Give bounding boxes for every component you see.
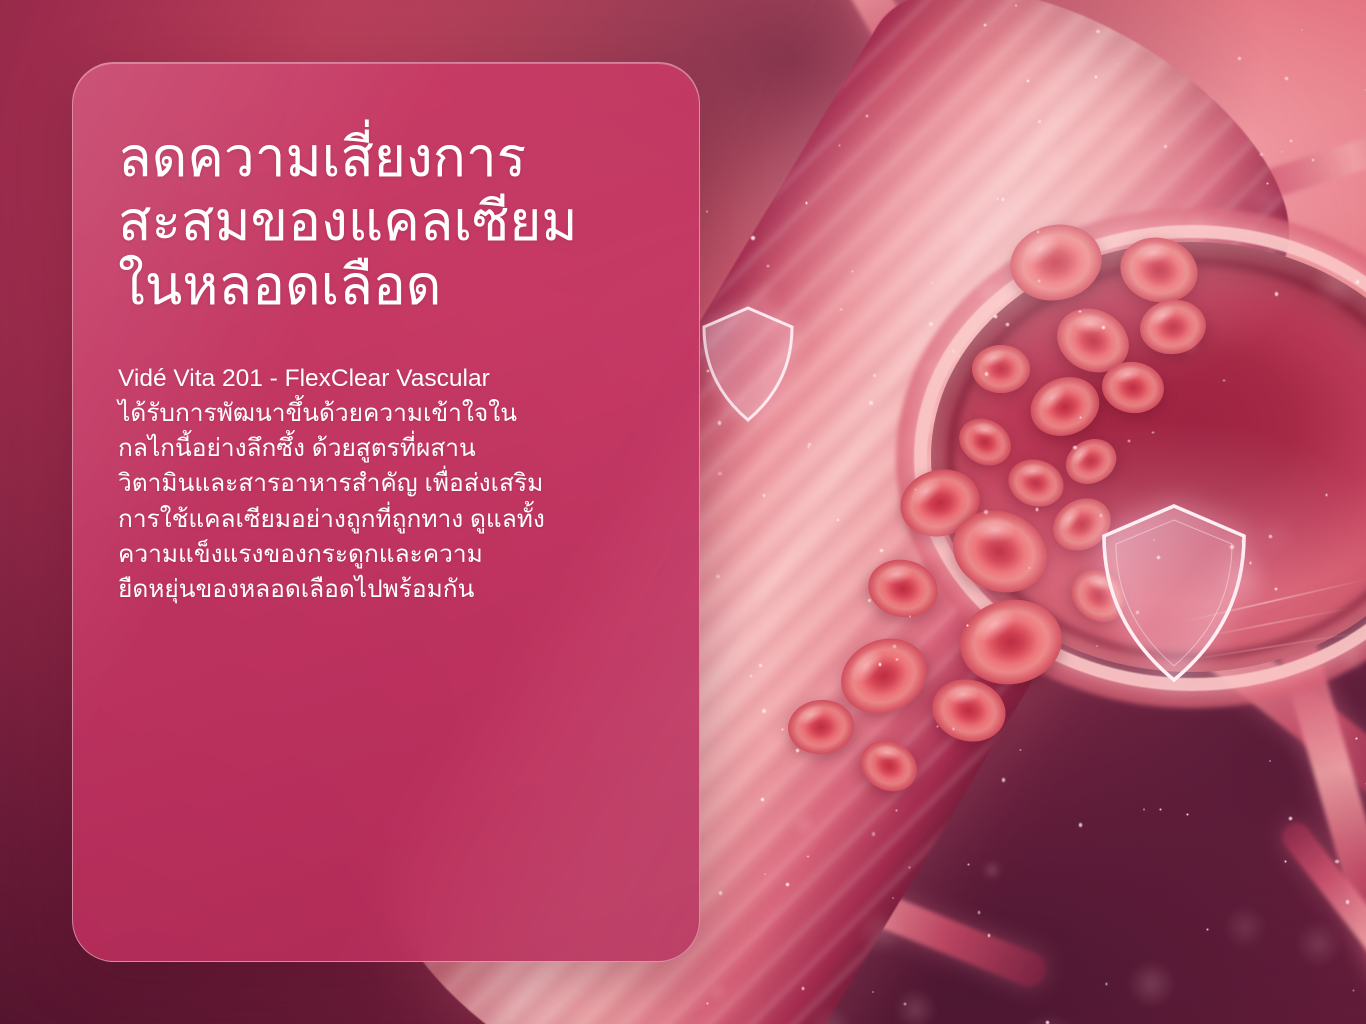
bokeh-particle xyxy=(1223,905,1267,949)
sparkle-particle xyxy=(805,201,808,204)
bokeh-particle xyxy=(1214,552,1272,610)
sparkle-particle xyxy=(762,493,767,498)
sparkle-particle xyxy=(1229,544,1235,550)
bokeh-particle xyxy=(1244,177,1289,222)
sparkle-particle xyxy=(749,674,753,678)
sparkle-particle xyxy=(1019,749,1021,751)
sparkle-particle xyxy=(983,509,989,515)
sparkle-particle xyxy=(865,114,869,118)
sparkle-particle xyxy=(872,373,877,378)
bokeh-particle xyxy=(1030,139,1075,184)
sparkle-particle xyxy=(895,809,898,812)
sparkle-particle xyxy=(1301,29,1303,31)
sparkle-particle xyxy=(718,890,723,895)
sparkle-particle xyxy=(1284,76,1289,81)
sparkle-particle xyxy=(951,349,956,354)
bokeh-particle xyxy=(856,908,904,956)
sparkle-particle xyxy=(1005,322,1010,327)
bokeh-particle xyxy=(1295,920,1343,968)
bokeh-particle xyxy=(708,982,728,1002)
sparkle-particle xyxy=(838,144,841,147)
sparkle-particle xyxy=(706,369,710,373)
sparkle-particle xyxy=(785,882,789,886)
sparkle-particle xyxy=(1119,610,1123,614)
sparkle-particle xyxy=(1072,445,1077,450)
card-content: ลดความเสี่ยงการ สะสมของแคลเซียม ในหลอดเล… xyxy=(73,63,699,607)
sparkle-particle xyxy=(1151,431,1154,434)
sparkle-particle xyxy=(1099,513,1103,517)
sparkle-particle xyxy=(1028,567,1030,569)
red-blood-cell xyxy=(972,345,1030,393)
bokeh-particle xyxy=(894,988,937,1024)
sparkle-particle xyxy=(1288,816,1293,821)
bokeh-particle xyxy=(948,245,966,263)
bokeh-particle xyxy=(1251,512,1298,559)
sparkle-particle xyxy=(936,725,939,728)
sparkle-particle xyxy=(1345,899,1351,905)
sparkle-particle xyxy=(1311,249,1313,251)
sparkle-particle xyxy=(914,488,917,491)
sparkle-particle xyxy=(977,910,981,914)
sparkle-particle xyxy=(983,23,987,27)
bokeh-particle xyxy=(737,709,790,762)
sparkle-particle xyxy=(1095,29,1101,35)
sparkle-particle xyxy=(879,548,884,553)
sparkle-particle xyxy=(1355,737,1359,741)
sparkle-particle xyxy=(1037,119,1042,124)
sparkle-particle xyxy=(984,371,989,376)
body-description: Vidé Vita 201 - FlexClear Vascular ได้รั… xyxy=(118,361,653,606)
sparkle-particle xyxy=(717,420,722,425)
bokeh-particle xyxy=(1310,261,1360,311)
bokeh-particle xyxy=(914,351,946,383)
sparkle-particle xyxy=(1096,645,1098,647)
sparkle-particle xyxy=(836,518,840,522)
protective-shield-small xyxy=(700,305,796,423)
content-card: ลดความเสี่ยงการ สะสมของแคลเซียม ในหลอดเล… xyxy=(72,62,700,962)
sparkle-particle xyxy=(1274,291,1280,297)
sparkle-particle xyxy=(1001,197,1005,201)
sparkle-particle xyxy=(1143,808,1146,811)
sparkle-particle xyxy=(967,863,970,866)
sparkle-particle xyxy=(706,210,708,212)
sparkle-particle xyxy=(878,662,883,667)
bokeh-particle xyxy=(1336,641,1366,673)
sparkle-particle xyxy=(717,471,723,477)
bokeh-particle xyxy=(905,510,965,570)
sparkle-particle xyxy=(1101,325,1106,330)
sparkle-particle xyxy=(909,615,912,618)
sparkle-particle xyxy=(1078,822,1083,827)
sparkle-particle xyxy=(1352,989,1355,992)
sparkle-particle xyxy=(807,442,812,447)
shield-icon xyxy=(700,305,796,423)
sparkle-particle xyxy=(1035,507,1039,511)
sparkle-particle xyxy=(1334,859,1339,864)
sparkle-particle xyxy=(1222,379,1225,382)
bokeh-particle xyxy=(1183,209,1213,239)
sparkle-particle xyxy=(1094,75,1098,79)
bokeh-particle xyxy=(742,279,783,320)
bokeh-particle xyxy=(975,278,1001,304)
sparkle-particle xyxy=(928,321,934,327)
sparkle-particle xyxy=(895,658,899,662)
sparkle-particle xyxy=(1078,310,1081,313)
bokeh-particle xyxy=(981,91,1019,129)
sparkle-particle xyxy=(715,574,720,579)
sparkle-particle xyxy=(993,314,998,319)
page-title: ลดความเสี่ยงการ สะสมของแคลเซียม ในหลอดเล… xyxy=(118,126,653,317)
sparkle-particle xyxy=(1241,539,1246,544)
bokeh-particle xyxy=(982,860,1001,879)
bokeh-particle xyxy=(1127,959,1176,1008)
poster-canvas: ลดความเสี่ยงการ สะสมของแคลเซียม ในหลอดเล… xyxy=(0,0,1366,1024)
